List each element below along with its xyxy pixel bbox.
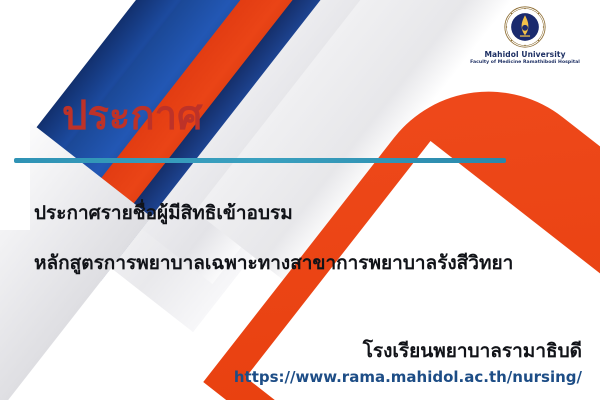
divider-line (14, 158, 506, 163)
university-logo-block: Mahidol University Faculty of Medicine R… (466, 6, 584, 65)
decorative-navy-band-mid (84, 0, 502, 281)
decorative-left-white-mask (0, 0, 30, 230)
decorative-left-orange-band (0, 167, 36, 400)
page-title: ประกาศ (62, 96, 202, 136)
decorative-grey-band-1 (75, 0, 513, 332)
mahidol-university-seal-icon (504, 6, 546, 48)
logo-faculty-subtitle: Faculty of Medicine Ramathibodi Hospital (466, 60, 584, 65)
announcement-line-2: หลักสูตรการพยาบาลเฉพาะทางสาขาการพยาบาลรั… (34, 248, 513, 278)
announcement-poster: Mahidol University Faculty of Medicine R… (0, 0, 600, 400)
decorative-left-navy-band (0, 223, 1, 400)
announcement-line-1: ประกาศรายชื่อผู้มีสิทธิเข้าอบรม (34, 198, 293, 228)
organization-name: โรงเรียนพยาบาลรามาธิบดี (363, 336, 582, 366)
website-url[interactable]: https://www.rama.mahidol.ac.th/nursing/ (234, 368, 582, 386)
logo-university-name: Mahidol University (466, 51, 584, 59)
decorative-blue-band-wide (0, 0, 391, 347)
